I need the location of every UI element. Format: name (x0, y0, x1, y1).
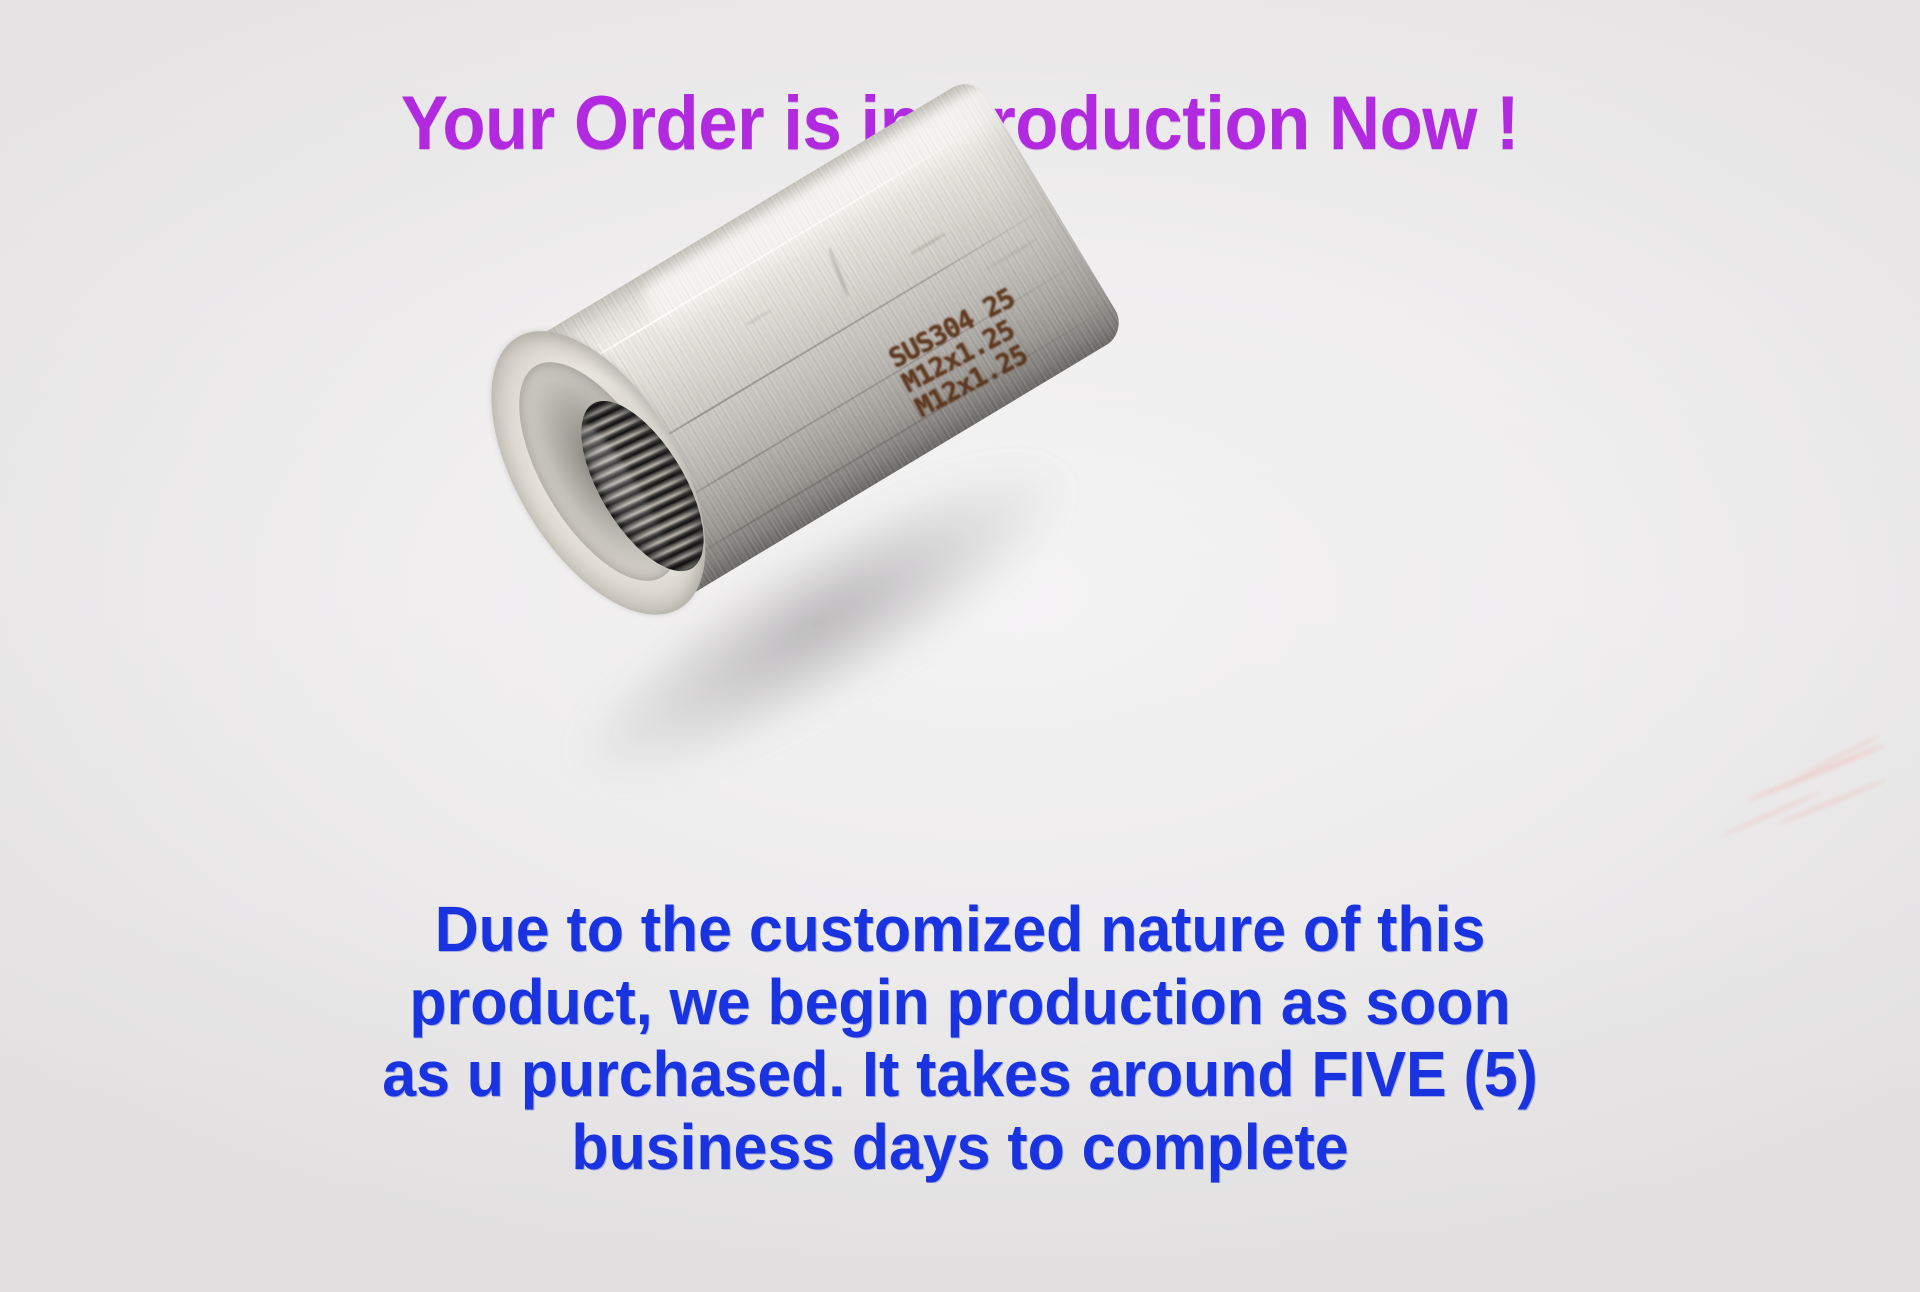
production-notice: Due to the customized nature of this pro… (48, 893, 1872, 1184)
notice-line-2: product, we begin production as soon (48, 966, 1872, 1039)
notice-line-1: Due to the customized nature of this (48, 893, 1872, 966)
product-image: SUS304 25 M12x1.25 M12x1.25 (500, 218, 1180, 758)
notice-line-3: as u purchased. It takes around FIVE (5) (48, 1038, 1872, 1111)
promo-banner: Your Order is in Production Now ! SUS304… (0, 0, 1920, 1292)
bore-highlight (566, 414, 683, 577)
notice-line-4: business days to complete (48, 1111, 1872, 1184)
